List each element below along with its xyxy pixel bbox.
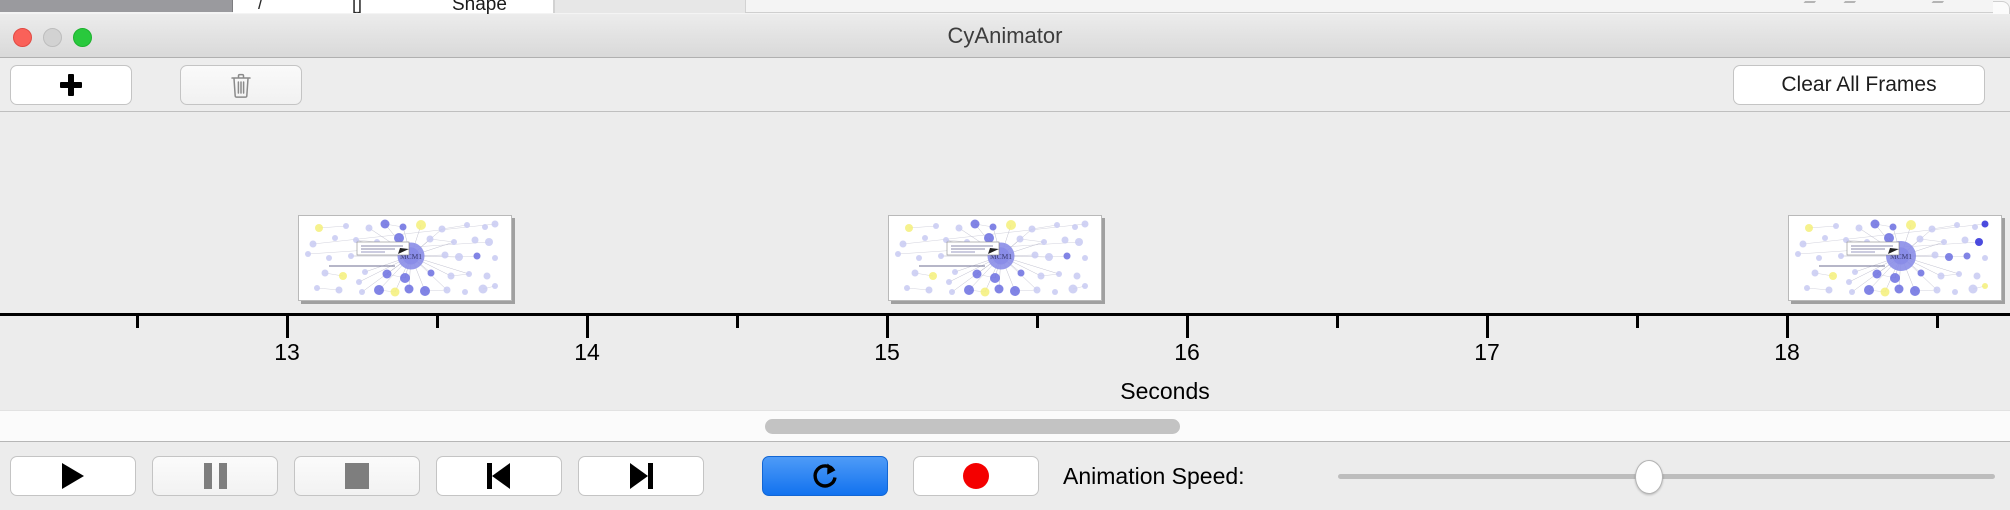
record-button[interactable] [913,456,1039,496]
axis-tick-minor [1936,316,1939,328]
background-glyph-2: [] [352,0,362,14]
horizontal-scrollbar[interactable] [0,410,2010,442]
playback-control-bar: Animation Speed: [0,442,2010,510]
play-icon [62,463,84,489]
background-divider [745,12,2010,13]
pause-button[interactable] [152,456,278,496]
clear-all-frames-button[interactable]: Clear All Frames [1733,65,1985,105]
frame-toolbar: Clear All Frames [0,58,2010,112]
axis-tick-minor [1036,316,1039,328]
frames-timeline-area[interactable]: MCM1MCM1MCM1 [0,112,2010,313]
delete-frame-button[interactable] [180,65,302,105]
record-icon [963,463,989,489]
axis-tick-label: 18 [1774,339,1800,366]
axis-tick-label: 13 [274,339,300,366]
background-corner [1993,1,2010,14]
stop-button[interactable] [294,456,420,496]
loop-icon [811,461,839,491]
slider-thumb[interactable] [1635,460,1663,494]
plus-icon [60,74,82,96]
play-button[interactable] [10,456,136,496]
skip-forward-button[interactable] [578,456,704,496]
axis-tick-label: 16 [1174,339,1200,366]
axis-tick-minor [136,316,139,328]
background-dark-tab [0,0,233,12]
axis-tick-major [1786,316,1789,338]
axis-line [0,313,2010,316]
axis-tick-label: 17 [1474,339,1500,366]
axis-tick-minor [1336,316,1339,328]
frame-thumbnail[interactable]: MCM1 [1788,215,2002,301]
stop-icon [345,463,369,489]
skip-back-icon [487,463,511,489]
axis-tick-major [586,316,589,338]
timeline-axis: 12131415161718 Seconds [0,313,2010,410]
skip-back-button[interactable] [436,456,562,496]
axis-tick-major [286,316,289,338]
animation-speed-slider[interactable] [1338,474,1995,479]
loop-button[interactable] [762,456,888,496]
background-shape-label: Shape [452,0,507,14]
axis-title: Seconds [0,378,2010,405]
axis-tick-label: 15 [874,339,900,366]
axis-tick-major [1486,316,1489,338]
axis-tick-minor [436,316,439,328]
animation-speed-label: Animation Speed: [1063,456,1245,496]
axis-tick-minor [1636,316,1639,328]
background-window-strip: / [] Shape [0,0,2010,14]
window-title: CyAnimator [0,14,2010,58]
cyanimator-window: / [] Shape CyAnimator Clear All Frames M… [0,0,2010,510]
background-gray-panel [554,0,746,13]
frame-thumbnail[interactable]: MCM1 [888,215,1102,301]
trash-icon [230,73,252,98]
axis-title-text: Seconds [1120,378,1210,404]
scrollbar-thumb[interactable] [765,419,1180,434]
axis-tick-label: 14 [574,339,600,366]
skip-forward-icon [629,463,653,489]
add-frame-button[interactable] [10,65,132,105]
frame-thumbnail[interactable]: MCM1 [298,215,512,301]
axis-tick-minor [736,316,739,328]
title-bar: CyAnimator [0,14,2010,58]
background-glyph-1: / [258,0,263,14]
pause-icon [204,463,227,489]
axis-tick-major [1186,316,1189,338]
axis-tick-major [886,316,889,338]
